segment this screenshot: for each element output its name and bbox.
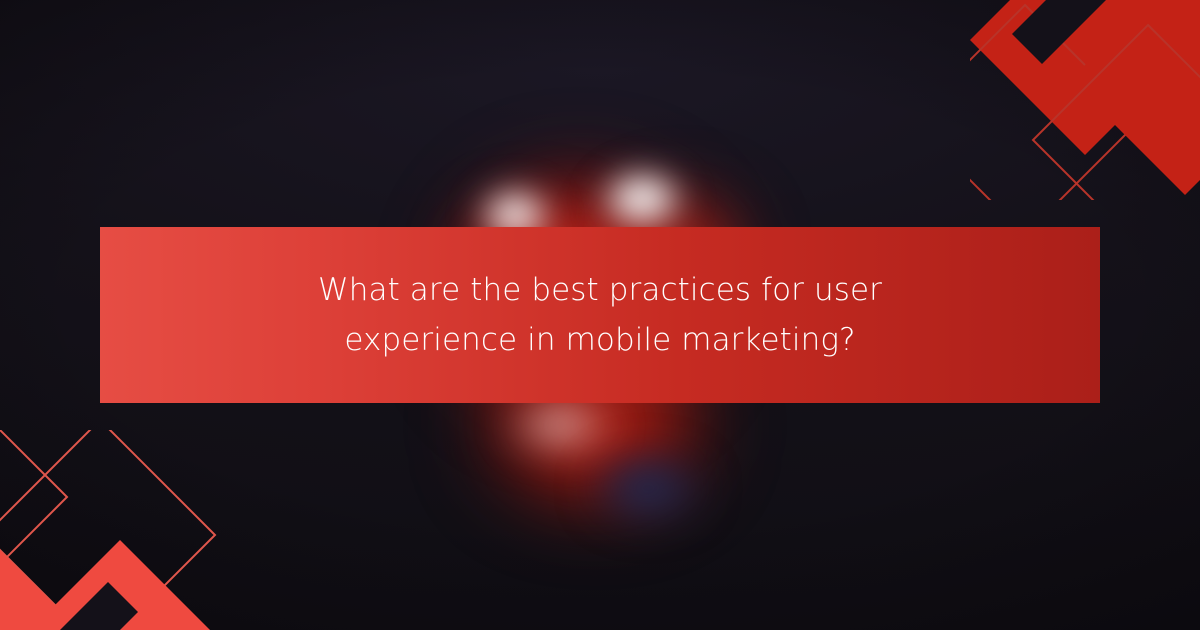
page-title: What are the best practices for user exp… xyxy=(280,265,920,365)
headline-banner: What are the best practices for user exp… xyxy=(100,227,1100,403)
question-card: What are the best practices for user exp… xyxy=(0,0,1200,630)
